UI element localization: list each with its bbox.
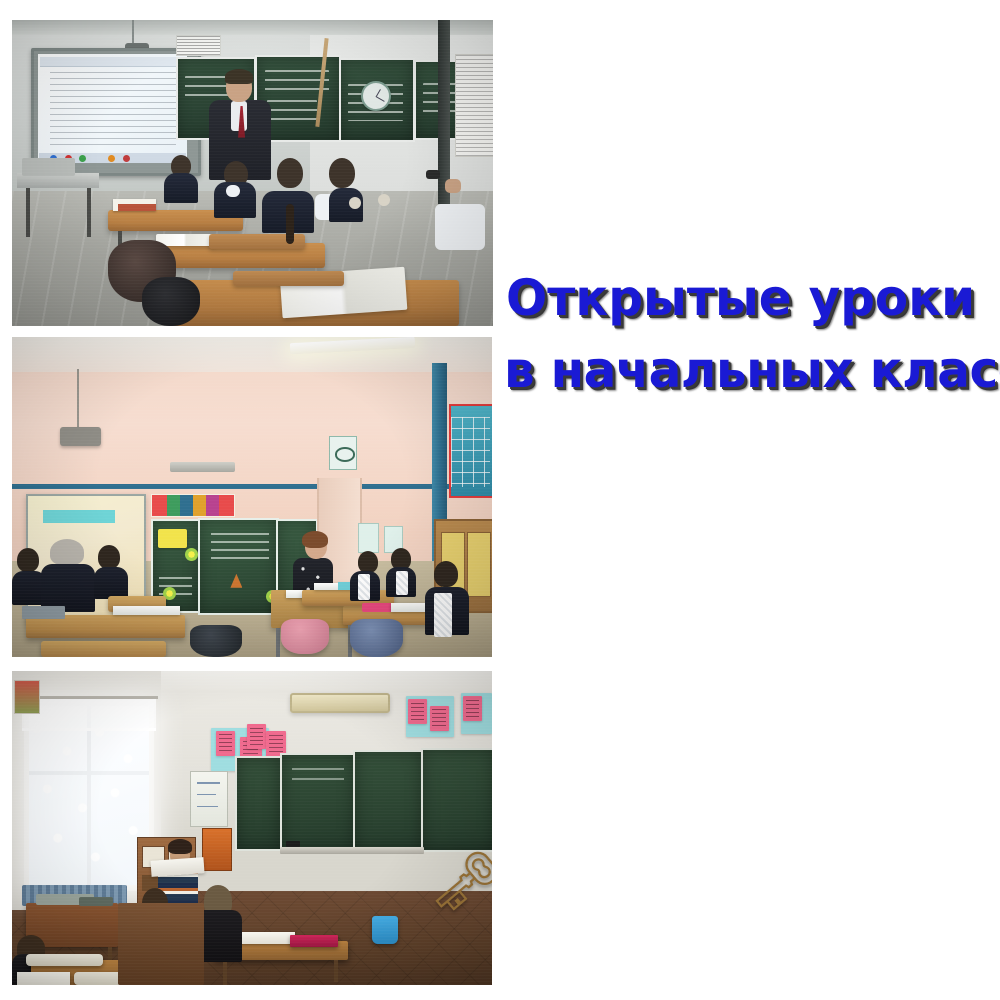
wall-poster-pink [463,696,482,721]
desk-leg [334,960,338,982]
wall-papers [176,35,221,55]
chalk-ledge [280,847,424,854]
pupil-apron [434,593,452,637]
wall-lamp [290,693,390,713]
desk-leg [87,188,91,237]
items-on-desk [79,897,113,906]
photo-classroom-window: 🗝 [12,671,492,985]
student-desk [26,615,184,637]
chalkboard-panel [235,756,282,851]
slide-title-bar [43,510,115,523]
wall-poster-pink [247,724,266,749]
red-book [290,935,338,948]
ceiling [12,20,493,35]
wall-picture [14,680,40,713]
teacher-hair [225,69,253,84]
vest-brooch [378,194,390,206]
pupil-head [277,158,303,188]
photo-classroom-whiteboard [12,20,493,326]
desk-leg [276,628,280,657]
blackboard-eraser [286,841,300,847]
wall-poster-orange [202,828,233,871]
projector-mount [77,369,79,430]
lace-curtain [24,702,154,890]
smartboard-text-lines [50,72,175,145]
desk-leg [223,960,227,985]
teacher-hair [168,839,192,854]
wall-ledge [170,462,235,472]
wall-poster-pink [408,699,427,724]
pupil-sleeve [435,204,485,250]
poster-title: Открытые уроки в начальных классах [500,262,1000,406]
wall-sign [329,436,357,470]
backpack-dark [190,625,243,657]
pupil-apron [396,571,408,595]
blue-bucket [372,916,398,944]
backpack-blue [350,619,403,657]
chalkboard-panel [280,753,356,851]
title-line-2: в начальных классах [504,334,985,406]
open-notebook [113,606,180,616]
pupil-head [98,545,120,569]
adult-body [41,564,95,612]
wall-clock-icon [361,81,391,111]
wall-chart [190,771,228,826]
teacher-hair [302,531,328,548]
open-notebook [17,972,70,985]
backpack [142,277,200,326]
pupil-collar [226,185,240,197]
chair-back [41,641,166,657]
wall-poster-pink [430,706,449,731]
book [118,204,156,212]
flower-decoration [185,548,198,561]
paper-roll [26,954,103,967]
chair-back [233,271,344,286]
chalkboard-panel [421,748,492,852]
chalkboard-panel [353,750,424,851]
curtain-valance [22,699,156,730]
pupil-body [164,173,198,203]
pupil-hand [445,179,461,193]
phone-device [426,170,440,179]
pupil-head [17,548,39,572]
backpack-pink [281,619,329,654]
chair-back [118,903,204,985]
pupil-apron [358,574,370,600]
poster-grid-pattern [451,417,490,487]
computer-keyboard [22,158,75,176]
teacher-shirt [231,101,247,131]
photo-classroom-projector [12,337,492,657]
wall-sign-small [358,523,379,554]
title-line-1: Открытые уроки [506,262,985,334]
wall-accent-stripe [12,484,492,488]
ceiling [12,337,492,372]
newspaper-display-board [455,54,493,157]
projector-icon [60,427,101,446]
wall-poster-pink [216,731,235,756]
golden-key-ornament: 🗝 [430,853,478,922]
adult-grey-hair [50,539,84,565]
pupil-head [434,561,458,587]
pupil-body [94,567,128,599]
poster-page: 🗝 [0,0,1000,1000]
book-on-desk [22,606,65,619]
pupil-braid [286,204,294,244]
smartboard-toolbar [40,57,185,67]
alphabet-banner [151,494,235,517]
pupil-head [329,158,355,188]
taskbar-app-icon [123,155,130,162]
desk-leg [26,188,30,237]
board-card [158,529,187,548]
